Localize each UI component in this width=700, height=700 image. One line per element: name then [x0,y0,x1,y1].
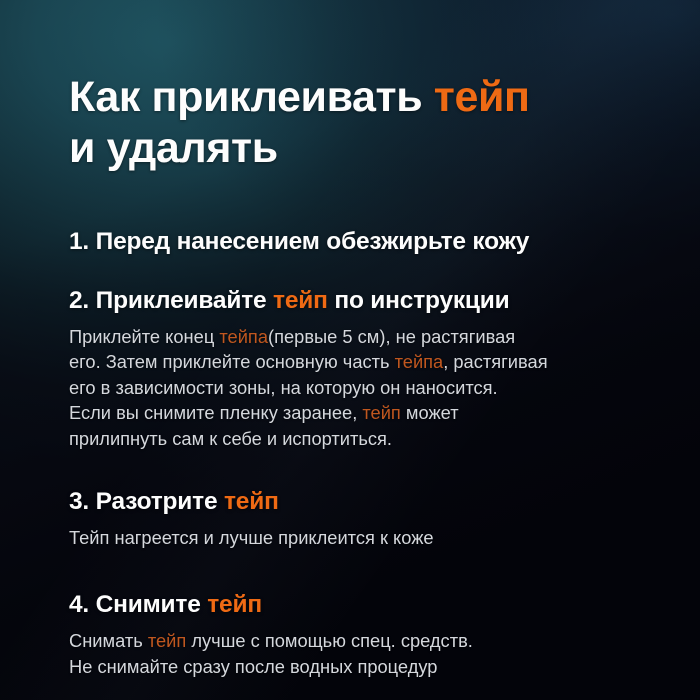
step-2-body-text-1: Приклейте конец [69,326,219,347]
step-2-heading: 2. Приклеивайте тейп по инструкции [69,286,654,316]
step-4-body: Снимать тейп лучше с помощью спец. средс… [69,628,654,679]
step-4-body-text-1: Снимать [69,630,148,651]
title-line2-text: и удалять [69,124,278,172]
step-4-heading: 4. Снимите тейп [69,590,654,620]
step-2-heading-text: Приклеивайте [89,287,273,314]
step-2-body-accent-1: тейпа [219,326,268,347]
step-3-body-text-1: Тейп нагреется и лучше приклеится к коже [69,527,434,548]
step-1-heading-text: Перед нанесением обезжирьте кожу [89,228,529,255]
step-3-body: Тейп нагреется и лучше приклеится к коже [69,525,654,550]
title-accent-word: тейп [434,73,530,121]
step-item-4: 4. Снимите тейп Снимать тейп лучше с пом… [69,590,654,679]
page-title: Как приклеивать тейпи удалять [69,72,629,174]
step-1-heading: 1. Перед нанесением обезжирьте кожу [69,227,654,257]
step-3-heading: 3. Разотрите тейп [69,487,654,517]
step-2-number: 2. [69,287,89,314]
step-1-number: 1. [69,228,89,255]
step-2-heading-text-2: по инструкции [328,287,510,314]
step-3-heading-text: Разотрите [89,488,224,515]
step-item-1: 1. Перед нанесением обезжирьте кожу [69,227,654,257]
step-4-heading-accent: тейп [207,591,262,618]
step-4-heading-text: Снимите [89,591,207,618]
poster-content: Как приклеивать тейпи удалять 1. Перед н… [0,72,700,679]
step-3-heading-accent: тейп [224,488,279,515]
step-item-2: 2. Приклеивайте тейп по инструкции Прикл… [69,286,654,451]
step-2-body-accent-3: тейп [362,402,400,423]
step-4-number: 4. [69,591,89,618]
step-4-body-accent-1: тейп [148,630,186,651]
poster-canvas: Как приклеивать тейпи удалять 1. Перед н… [0,0,700,700]
step-2-body-accent-2: тейпа [395,351,444,372]
step-3-number: 3. [69,488,89,515]
title-line1-text: Как приклеивать [69,73,434,121]
step-2-body: Приклейте конец тейпа(первые 5 см), не р… [69,324,654,451]
step-2-heading-accent: тейп [273,287,328,314]
step-item-3: 3. Разотрите тейп Тейп нагреется и лучше… [69,487,654,550]
